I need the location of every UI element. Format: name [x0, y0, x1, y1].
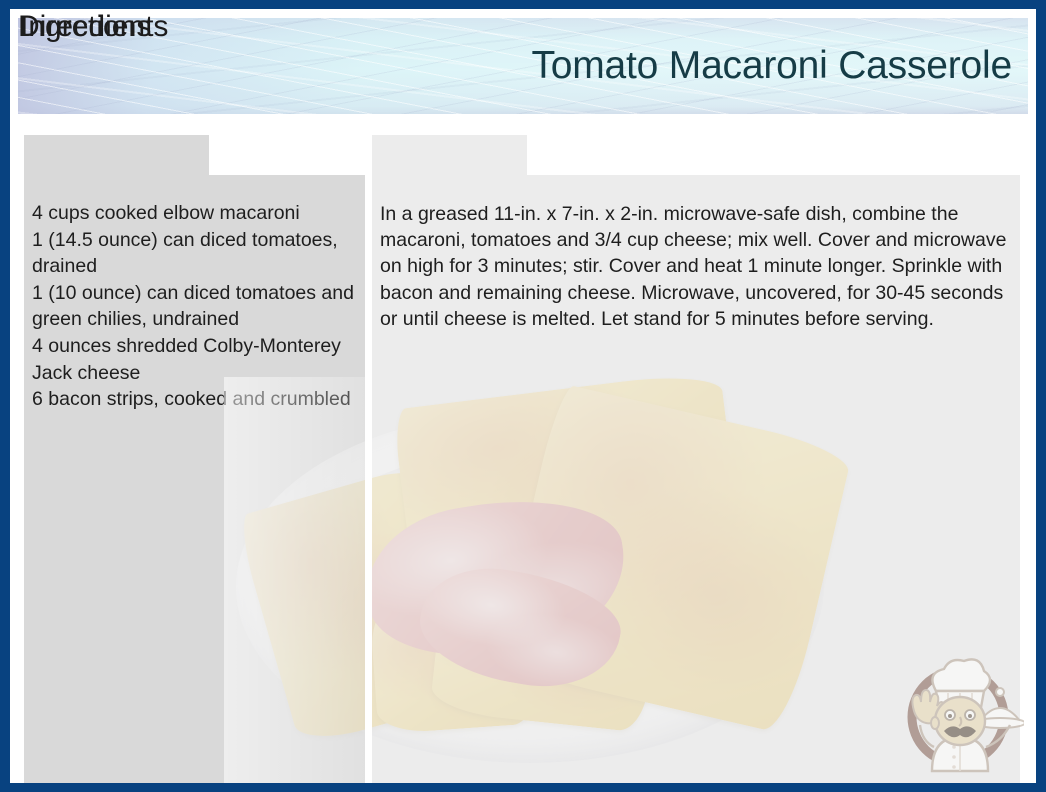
list-item: 4 cups cooked elbow macaroni: [32, 200, 359, 227]
ingredients-panel: 4 cups cooked elbow macaroni 1 (14.5 oun…: [24, 175, 365, 783]
page-title: Tomato Macaroni Casserole: [531, 44, 1012, 88]
ingredients-heading-tab: [24, 135, 209, 175]
column-gap-seam: [365, 175, 372, 783]
ingredients-list: 4 cups cooked elbow macaroni 1 (14.5 oun…: [32, 200, 359, 413]
directions-heading-tab: [372, 135, 527, 175]
list-item: 6 bacon strips, cooked and crumbled: [32, 386, 359, 413]
list-item: 1 (10 ounce) can diced tomatoes and gree…: [32, 280, 359, 333]
directions-heading-label: Directions: [18, 10, 151, 44]
chef-with-cloche-logo: [896, 647, 1024, 775]
title-banner: Tomato Macaroni Casserole: [18, 18, 1028, 114]
list-item: 4 ounces shredded Colby-Monterey Jack ch…: [32, 333, 359, 386]
slide-page: Tomato Macaroni Casserole Ingredients 4 …: [10, 9, 1036, 783]
directions-body-text: In a greased 11-in. x 7-in. x 2-in. micr…: [380, 201, 1014, 332]
chef-face: [935, 697, 985, 745]
slide-frame: Tomato Macaroni Casserole Ingredients 4 …: [0, 0, 1046, 792]
list-item: 1 (14.5 ounce) can diced tomatoes, drain…: [32, 227, 359, 280]
